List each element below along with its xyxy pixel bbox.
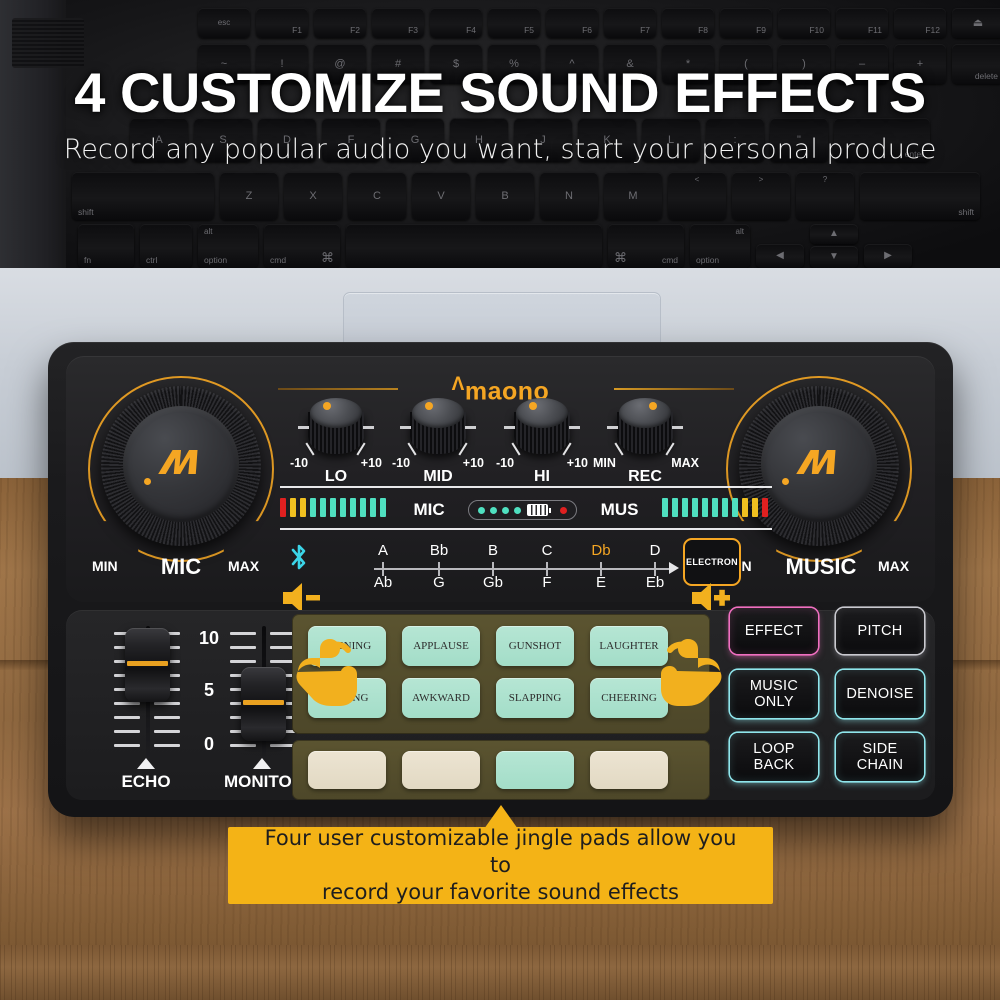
key-slash: ? xyxy=(796,172,854,220)
denoise-button-label: DENOISE xyxy=(846,686,913,702)
mic-dial-label: MIC xyxy=(136,554,226,580)
knob-mid-tick-left xyxy=(400,426,411,429)
meter-segment xyxy=(672,498,678,517)
key-cmd-left: cmd⌘ xyxy=(264,224,340,268)
key-space xyxy=(346,224,602,268)
fader-scale-10: 10 xyxy=(199,628,219,649)
music-max-label: MAX xyxy=(878,558,909,574)
knob-rec-label: REC xyxy=(603,468,687,486)
monitor-fader-marker-icon xyxy=(253,758,271,769)
note-label-top: C xyxy=(530,542,564,559)
key-esc: esc xyxy=(198,8,250,38)
pad-applause[interactable]: APPLAUSE xyxy=(402,626,480,666)
mic-jog-dial[interactable]: ʍ xyxy=(88,376,274,562)
fader-tick xyxy=(154,716,180,719)
brand-accent-line-right xyxy=(614,388,734,390)
knob-rec-tick-left xyxy=(607,426,618,429)
meter-segment xyxy=(732,498,738,517)
knob-rec-pointer xyxy=(649,402,657,410)
echo-fader-marker-icon xyxy=(137,758,155,769)
page-headline: 4 CUSTOMIZE SOUND EFFECTS xyxy=(0,60,1000,125)
meter-segment xyxy=(310,498,316,517)
key-b: B xyxy=(476,172,534,220)
function-button-grid: EFFECT PITCH MUSIC ONLY DENOISE LOOP BAC… xyxy=(730,608,930,798)
fader-tick xyxy=(114,716,140,719)
note-label-bottom: F xyxy=(530,574,564,591)
key-f1: F1 xyxy=(256,8,308,38)
alert-dot xyxy=(560,507,567,514)
key-shift-right: shift xyxy=(860,172,980,220)
knob-lo-label: LO xyxy=(294,468,378,486)
tap-hand-glyph xyxy=(648,628,728,708)
knob-hi-pointer xyxy=(529,402,537,410)
scale-arrow-icon xyxy=(669,562,679,574)
effect-button[interactable]: EFFECT xyxy=(730,608,818,654)
music-dial-indicator-dot xyxy=(782,478,789,485)
pad-gunshot[interactable]: GUNSHOT xyxy=(496,626,574,666)
key-arrow-up: ▲ xyxy=(810,224,858,244)
knob-rec-control[interactable] xyxy=(615,398,675,454)
note-label-top: B xyxy=(476,542,510,559)
maono-logo-icon: ʍ xyxy=(157,434,205,485)
note-label-bottom: E xyxy=(584,574,618,591)
knob-lo-cap xyxy=(310,398,362,428)
fader-tick xyxy=(154,702,180,705)
mic-meter-label: MIC xyxy=(414,500,445,520)
key-arrow-right: ▶ xyxy=(864,244,912,268)
knob-mid-label: MID xyxy=(396,468,480,486)
mic-level-meter xyxy=(280,498,390,522)
meter-segment xyxy=(692,498,698,517)
music-meter-label: MUS xyxy=(601,500,639,520)
meter-divider-top xyxy=(280,486,772,488)
note-label-bottom: Ab xyxy=(366,574,400,591)
bluetooth-glyph xyxy=(288,542,310,572)
key-f4: F4 xyxy=(430,8,482,38)
knob-hi-control[interactable] xyxy=(512,398,572,454)
key-c: C xyxy=(348,172,406,220)
keyboard-row-bottom: fn ctrl altoption cmd⌘ ⌘cmd altoption ◀ … xyxy=(78,224,912,268)
meter-segment xyxy=(762,498,768,517)
tap-hand-cursor-left xyxy=(290,628,360,698)
jingle-pad-2[interactable] xyxy=(402,751,480,789)
jingle-pad-4[interactable] xyxy=(590,751,668,789)
meter-segment xyxy=(712,498,718,517)
meter-segment xyxy=(370,498,376,517)
key-f10: F10 xyxy=(778,8,830,38)
key-option-left: altoption xyxy=(198,224,258,268)
fader-scale-5: 5 xyxy=(204,680,214,701)
meter-segment xyxy=(340,498,346,517)
music-level-meter xyxy=(662,498,772,522)
note-label-top: D xyxy=(638,542,672,559)
loop-back-button[interactable]: LOOP BACK xyxy=(730,733,818,781)
status-dot xyxy=(490,507,497,514)
key-fn: fn xyxy=(78,224,134,268)
brand-accent-line-left xyxy=(278,388,398,390)
knob-rec-tick-right xyxy=(672,426,683,429)
meter-segment xyxy=(752,498,758,517)
knob-mid-pointer xyxy=(425,402,433,410)
customizable-jingle-pad-block xyxy=(292,740,710,800)
meter-segment xyxy=(290,498,296,517)
note-label-top-active: Db xyxy=(584,542,618,559)
note-label-bottom: Gb xyxy=(476,574,510,591)
fader-tick xyxy=(230,660,256,663)
key-x: X xyxy=(284,172,342,220)
fader-tick xyxy=(230,646,256,649)
key-shift-scale: A Bb B C Db D Ab G Gb F E Eb xyxy=(366,542,696,594)
meter-segment xyxy=(280,498,286,517)
fader-tick xyxy=(154,744,180,747)
key-f3: F3 xyxy=(372,8,424,38)
music-only-button[interactable]: MUSIC ONLY xyxy=(730,670,818,718)
music-dial-face: ʍ xyxy=(761,406,877,522)
knob-mid-control[interactable] xyxy=(408,398,468,454)
effect-button-label: EFFECT xyxy=(745,623,803,639)
status-dot xyxy=(478,507,485,514)
key-f8: F8 xyxy=(662,8,714,38)
knob-lo-tick-right xyxy=(363,426,374,429)
knob-rec-cap xyxy=(619,398,671,428)
key-f2: F2 xyxy=(314,8,366,38)
meter-segment xyxy=(330,498,336,517)
knob-mid-tick-right xyxy=(465,426,476,429)
status-dot xyxy=(502,507,509,514)
keyboard-row-shift: shift Z X C V B N M < > ? shift xyxy=(72,172,980,220)
callout-banner: Four user customizable jingle pads allow… xyxy=(228,827,773,904)
mic-max-label: MAX xyxy=(228,558,259,574)
meter-segment xyxy=(380,498,386,517)
key-n: N xyxy=(540,172,598,220)
maono-logo-icon: ʍ xyxy=(795,434,843,485)
mic-dial-face: ʍ xyxy=(123,406,239,522)
wood-desk-front xyxy=(0,945,1000,1000)
note-label-bottom: Eb xyxy=(638,574,672,591)
key-f9: F9 xyxy=(720,8,772,38)
brand-mark-icon: Λ xyxy=(452,374,465,395)
key-arrow-left: ◀ xyxy=(756,244,804,268)
jingle-pad-1[interactable] xyxy=(308,751,386,789)
fader-tick xyxy=(230,632,256,635)
key-f7: F7 xyxy=(604,8,656,38)
tap-hand-cursor-right xyxy=(648,628,718,698)
meter-segment xyxy=(742,498,748,517)
denoise-button[interactable]: DENOISE xyxy=(836,670,924,718)
knob-hi-label: HI xyxy=(500,468,584,486)
meter-segment xyxy=(662,498,668,517)
side-chain-button-label: SIDE CHAIN xyxy=(857,741,904,773)
music-dial-label: MUSIC xyxy=(768,554,874,580)
knob-hi-tick-right xyxy=(569,426,580,429)
key-option-right: altoption xyxy=(690,224,750,268)
tap-hand-glyph xyxy=(290,628,370,708)
key-shift-left: shift xyxy=(72,172,214,220)
level-meter-row: MIC MUS xyxy=(280,498,772,522)
meter-segment xyxy=(350,498,356,517)
meter-segment xyxy=(702,498,708,517)
scale-axis-line xyxy=(374,568,670,570)
mic-min-label: MIN xyxy=(92,558,118,574)
note-label-top: A xyxy=(366,542,400,559)
meter-segment xyxy=(722,498,728,517)
status-dot xyxy=(514,507,521,514)
key-period: > xyxy=(732,172,790,220)
key-comma: < xyxy=(668,172,726,220)
note-label-top: Bb xyxy=(422,542,456,559)
jingle-pad-3[interactable] xyxy=(496,751,574,789)
device-top-panel: Λmaono ʍ MIN MIC MAX ʍ xyxy=(66,356,935,602)
fader-scale-0: 0 xyxy=(204,734,214,755)
meter-segment xyxy=(360,498,366,517)
fader-tick xyxy=(230,744,256,747)
knob-hi-cap xyxy=(516,398,568,428)
callout-line-2: record your favorite sound effects xyxy=(322,879,679,906)
music-dial-body[interactable]: ʍ xyxy=(739,386,899,546)
meter-segment xyxy=(320,498,326,517)
knob-hi-tick-left xyxy=(504,426,515,429)
echo-fader-handle[interactable] xyxy=(125,628,170,702)
key-arrow-down: ▼ xyxy=(810,246,858,268)
keyboard-row-function: esc F1 F2 F3 F4 F5 F6 F7 F8 F9 F10 F11 F… xyxy=(198,8,1000,38)
pitch-button-label: PITCH xyxy=(858,623,903,639)
key-f12: F12 xyxy=(894,8,946,38)
pad-awkward[interactable]: AWKWARD xyxy=(402,678,480,718)
key-v: V xyxy=(412,172,470,220)
bluetooth-icon[interactable] xyxy=(288,542,310,578)
fader-tick xyxy=(154,730,180,733)
monitor-fader-handle[interactable] xyxy=(241,667,286,741)
knob-lo-pointer xyxy=(323,402,331,410)
key-f6: F6 xyxy=(546,8,598,38)
key-m: M xyxy=(604,172,662,220)
key-cmd-right: ⌘cmd xyxy=(608,224,684,268)
callout-line-1: Four user customizable jingle pads allow… xyxy=(252,825,749,879)
status-dots-group xyxy=(478,507,521,514)
echo-fader[interactable] xyxy=(100,622,196,762)
mic-dial-indicator-dot xyxy=(144,478,151,485)
mic-dial-body[interactable]: ʍ xyxy=(101,386,261,546)
key-f11: F11 xyxy=(836,8,888,38)
pitch-button[interactable]: PITCH xyxy=(836,608,924,654)
status-indicator-pill xyxy=(468,500,577,520)
side-chain-button[interactable]: SIDE CHAIN xyxy=(836,733,924,781)
battery-icon xyxy=(527,504,548,516)
knob-lo-control[interactable] xyxy=(306,398,366,454)
knob-lo-tick-left xyxy=(298,426,309,429)
meter-divider-bottom xyxy=(280,528,772,530)
page-subheadline: Record any popular audio you want, start… xyxy=(0,134,1000,165)
echo-fader-label: ECHO xyxy=(96,772,196,792)
fader-tick xyxy=(114,702,140,705)
fader-tick xyxy=(114,730,140,733)
knob-mid-cap xyxy=(412,398,464,428)
key-ctrl: ctrl xyxy=(140,224,192,268)
key-z: Z xyxy=(220,172,278,220)
note-label-bottom: G xyxy=(422,574,456,591)
key-f5: F5 xyxy=(488,8,540,38)
music-jog-dial[interactable]: ʍ xyxy=(726,376,912,562)
music-only-button-label: MUSIC ONLY xyxy=(750,678,798,710)
pad-slapping[interactable]: SLAPPING xyxy=(496,678,574,718)
loop-back-button-label: LOOP BACK xyxy=(753,741,795,773)
meter-segment xyxy=(300,498,306,517)
fader-tick xyxy=(114,744,140,747)
key-eject: ⏏ xyxy=(952,8,1000,38)
meter-segment xyxy=(682,498,688,517)
